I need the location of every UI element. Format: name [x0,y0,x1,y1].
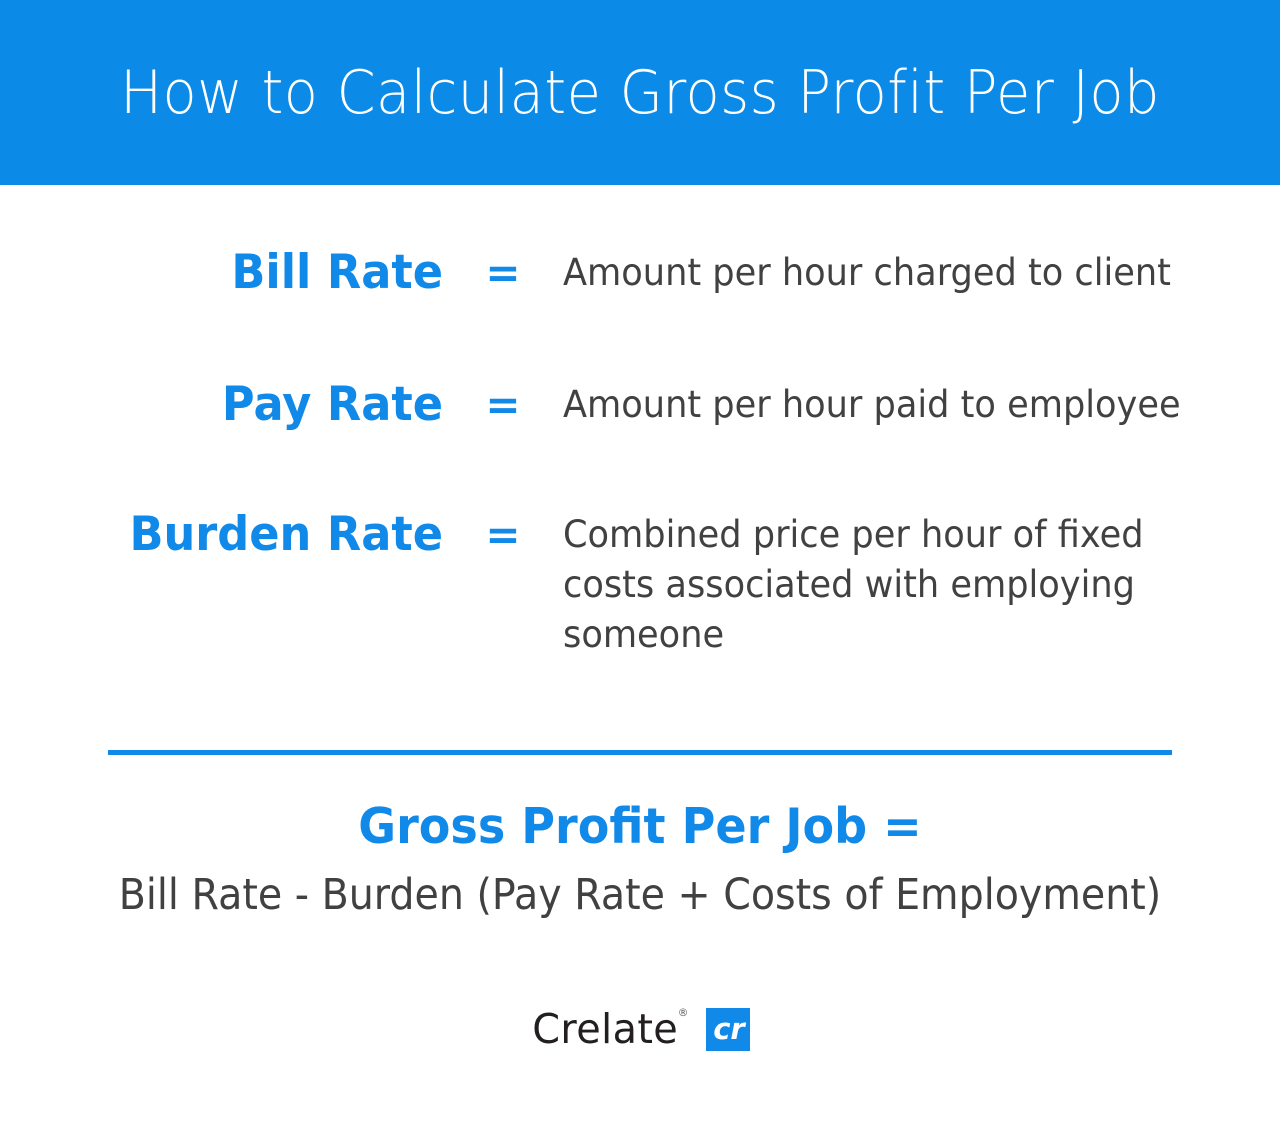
definition-description-pay-rate: Amount per hour paid to employee [563,380,1190,430]
definition-description-bill-rate: Amount per hour charged to client [563,248,1190,298]
definition-row-burden-rate: Burden Rate = Combined price per hour of… [0,510,1280,660]
formula-expression: Bill Rate - Burden (Pay Rate + Costs of … [51,871,1229,919]
definitions-list: Bill Rate = Amount per hour charged to c… [0,185,1280,660]
definition-description-burden-rate: Combined price per hour of fixed costs a… [563,510,1190,660]
logo-mark-text: cr [713,1015,745,1044]
section-divider [108,750,1172,755]
equals-sign-burden-rate: = [443,510,563,560]
brand-logo: Crelate ® cr [0,1008,1280,1051]
registered-trademark-icon: ® [678,1007,689,1018]
definition-row-bill-rate: Bill Rate = Amount per hour charged to c… [0,248,1280,298]
definition-row-pay-rate: Pay Rate = Amount per hour paid to emplo… [0,380,1280,430]
logo-wordmark-text: Crelate [532,1005,678,1053]
definition-term-bill-rate: Bill Rate [22,248,443,297]
page-title: How to Calculate Gross Profit Per Job [120,63,1160,123]
logo-mark-icon: cr [706,1008,750,1051]
equals-sign-bill-rate: = [443,248,563,298]
formula-section: Gross Profit Per Job = Bill Rate - Burde… [0,800,1280,919]
definition-term-burden-rate: Burden Rate [22,510,443,559]
header-banner: How to Calculate Gross Profit Per Job [0,0,1280,185]
formula-heading: Gross Profit Per Job = [38,800,1241,855]
definition-term-pay-rate: Pay Rate [22,380,443,429]
logo-wordmark: Crelate ® [532,1009,678,1050]
equals-sign-pay-rate: = [443,380,563,430]
